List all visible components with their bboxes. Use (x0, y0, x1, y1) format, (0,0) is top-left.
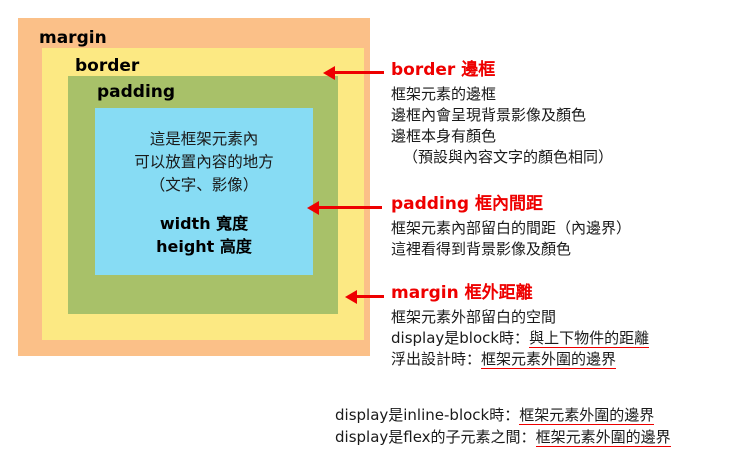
border-annotation-line-2: 邊框內會呈現背景影像及顏色 (391, 105, 613, 126)
margin-rule-3-prefix: display是inline-block時： (335, 406, 519, 424)
margin-rule-2: 浮出設計時：框架元素外圍的邊界 (391, 349, 649, 370)
padding-box-label: padding (97, 84, 175, 101)
border-annotation-title: border 邊框 (391, 60, 613, 80)
margin-rule-2-prefix: 浮出設計時： (391, 350, 481, 368)
border-annotation-line-1: 框架元素的邊框 (391, 84, 613, 105)
margin-annotation-body: 框架元素外部留白的空間 display是block時：與上下物件的距離 浮出設計… (391, 307, 649, 370)
content-box-description: 這是框架元素內 可以放置內容的地方 （文字、影像） (95, 128, 313, 197)
margin-rule-1-prefix: display是block時： (391, 329, 529, 347)
padding-box: padding 這是框架元素內 可以放置內容的地方 （文字、影像） width … (68, 76, 338, 314)
margin-annotation-title: margin 框外距離 (391, 283, 649, 303)
border-annotation-line-3: 邊框本身有顏色 (391, 126, 613, 147)
content-line-1: 這是框架元素內 (95, 128, 313, 151)
margin-arrow-icon (356, 295, 384, 298)
padding-annotation-line-1: 框架元素內部留白的間距（內邊界） (391, 218, 631, 239)
content-line-3: （文字、影像） (95, 174, 313, 197)
margin-box-label: margin (39, 30, 107, 47)
padding-annotation: padding 框內間距 框架元素內部留白的間距（內邊界） 這裡看得到背景影像及… (391, 194, 631, 260)
margin-rule-2-value: 框架元素外圍的邊界 (481, 350, 616, 369)
border-box: border padding 這是框架元素內 可以放置內容的地方 （文字、影像）… (42, 48, 364, 340)
padding-annotation-line-2: 這裡看得到背景影像及顏色 (391, 239, 631, 260)
border-annotation: border 邊框 框架元素的邊框 邊框內會呈現背景影像及顏色 邊框本身有顏色 … (391, 60, 613, 168)
margin-rule-4: display是flex的子元素之間：框架元素外圍的邊界 (335, 426, 671, 448)
padding-annotation-body: 框架元素內部留白的間距（內邊界） 這裡看得到背景影像及顏色 (391, 218, 631, 260)
width-label: width 寬度 (95, 212, 313, 235)
margin-extra-rules: display是inline-block時：框架元素外圍的邊界 display是… (335, 404, 671, 448)
border-annotation-line-4: （預設與內容文字的顏色相同） (391, 147, 613, 168)
margin-rule-1: display是block時：與上下物件的距離 (391, 328, 649, 349)
content-box-dimensions: width 寬度 height 高度 (95, 212, 313, 258)
content-line-2: 可以放置內容的地方 (95, 151, 313, 174)
height-label: height 高度 (95, 235, 313, 258)
margin-box: margin border padding 這是框架元素內 可以放置內容的地方 … (18, 18, 370, 356)
box-model-diagram-page: margin border padding 這是框架元素內 可以放置內容的地方 … (0, 0, 750, 461)
margin-rule-3: display是inline-block時：框架元素外圍的邊界 (335, 404, 671, 426)
margin-rule-4-prefix: display是flex的子元素之間： (335, 428, 536, 446)
border-arrow-icon (334, 71, 384, 74)
margin-rule-4-value: 框架元素外圍的邊界 (536, 428, 671, 447)
margin-annotation-line-1: 框架元素外部留白的空間 (391, 307, 649, 328)
margin-annotation: margin 框外距離 框架元素外部留白的空間 display是block時：與… (391, 283, 649, 370)
margin-rule-1-value: 與上下物件的距離 (529, 329, 649, 348)
border-box-label: border (75, 58, 139, 75)
margin-rule-3-value: 框架元素外圍的邊界 (519, 406, 654, 425)
content-box: 這是框架元素內 可以放置內容的地方 （文字、影像） width 寬度 heigh… (95, 108, 313, 275)
padding-arrow-icon (318, 206, 382, 209)
border-annotation-body: 框架元素的邊框 邊框內會呈現背景影像及顏色 邊框本身有顏色 （預設與內容文字的顏… (391, 84, 613, 168)
padding-annotation-title: padding 框內間距 (391, 194, 631, 214)
